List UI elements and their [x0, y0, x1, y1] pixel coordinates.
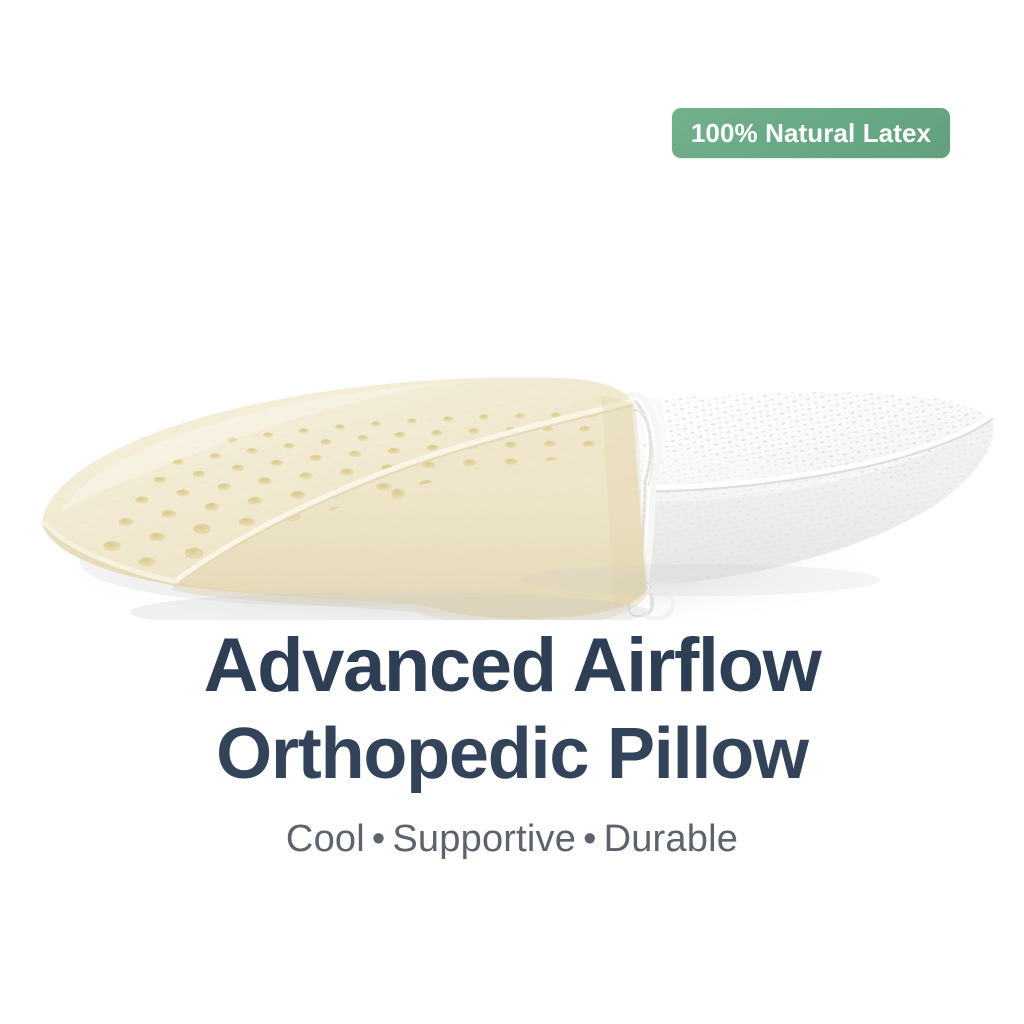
tagline-item-durable: Durable: [604, 818, 738, 860]
tagline-item-supportive: Supportive: [392, 818, 576, 860]
headline-line-1: Advanced Airflow: [0, 628, 1024, 704]
copy-block: Advanced Airflow Orthopedic Pillow Cool•…: [0, 628, 1024, 858]
tagline-separator-1: •: [365, 818, 393, 860]
tagline-separator-2: •: [576, 818, 604, 860]
tagline: Cool•Supportive•Durable: [0, 820, 1024, 858]
badge-label: 100% Natural Latex: [691, 120, 931, 146]
tagline-item-cool: Cool: [286, 818, 365, 860]
headline-line-2: Orthopedic Pillow: [0, 718, 1024, 790]
product-marketing-canvas: 100% Natural Latex: [0, 0, 1024, 1024]
product-image: [0, 150, 1024, 620]
